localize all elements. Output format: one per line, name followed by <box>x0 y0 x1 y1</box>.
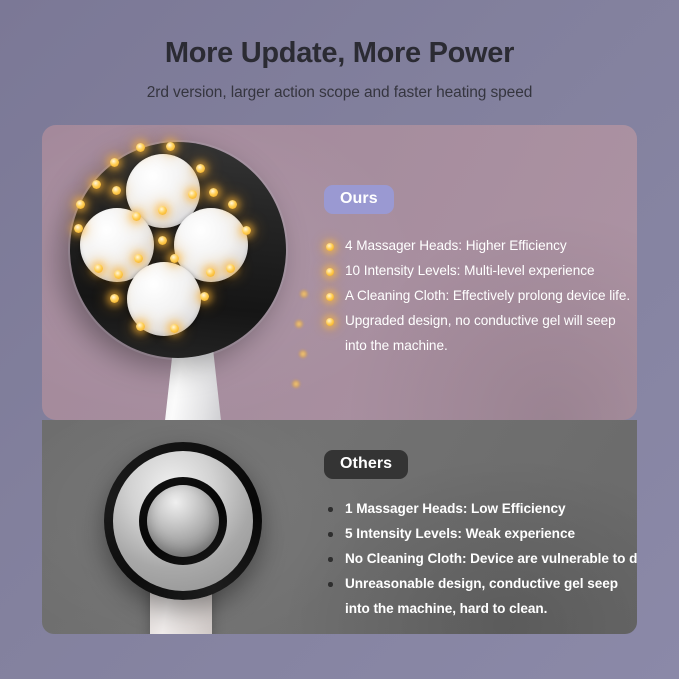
infographic-canvas: More Update, More Power 2rd version, lar… <box>0 0 679 679</box>
led-light <box>94 264 103 273</box>
list-item: 4 Massager Heads: Higher Efficiency <box>324 233 624 258</box>
list-item-continued: into the machine, hard to clean. <box>324 596 634 621</box>
list-item-continued: into the machine. <box>324 333 624 358</box>
ours-product-image <box>52 130 322 420</box>
list-item: Unreasonable design, conductive gel seep <box>324 571 634 596</box>
list-item: Upgraded design, no conductive gel will … <box>324 308 624 333</box>
led-light <box>196 164 205 173</box>
led-light <box>209 188 218 197</box>
others-product-image <box>82 430 282 634</box>
led-light <box>132 212 141 221</box>
led-light <box>114 270 123 279</box>
others-ring-dark <box>139 477 227 565</box>
led-light <box>166 142 175 151</box>
others-massager-head <box>104 442 262 600</box>
led-light <box>170 254 179 263</box>
led-light <box>110 294 119 303</box>
others-dome <box>147 485 219 557</box>
page-subtitle: 2rd version, larger action scope and fas… <box>0 84 679 102</box>
led-light <box>158 236 167 245</box>
led-light <box>92 180 101 189</box>
header: More Update, More Power 2rd version, lar… <box>0 0 679 102</box>
led-light <box>136 143 145 152</box>
list-item: 5 Intensity Levels: Weak experience <box>324 521 634 546</box>
list-item: 10 Intensity Levels: Multi-level experie… <box>324 258 624 283</box>
led-light <box>76 200 85 209</box>
led-light <box>228 200 237 209</box>
list-item: No Cleaning Cloth: Device are vulnerable… <box>324 546 634 571</box>
others-badge: Others <box>324 450 408 479</box>
ours-feature-list: 4 Massager Heads: Higher Efficiency 10 I… <box>324 233 624 358</box>
led-light <box>158 206 167 215</box>
led-light <box>136 322 145 331</box>
others-feature-list: 1 Massager Heads: Low Efficiency 5 Inten… <box>324 496 634 621</box>
list-item: 1 Massager Heads: Low Efficiency <box>324 496 634 521</box>
others-content: Others 1 Massager Heads: Low Efficiency … <box>324 450 634 621</box>
ours-panel: Ours 4 Massager Heads: Higher Efficiency… <box>42 125 637 420</box>
led-light <box>200 292 209 301</box>
others-panel: Others 1 Massager Heads: Low Efficiency … <box>42 420 637 634</box>
ours-content: Ours 4 Massager Heads: Higher Efficiency… <box>324 185 624 358</box>
led-light <box>134 254 143 263</box>
page-title: More Update, More Power <box>0 37 679 70</box>
others-ring-mid <box>113 451 253 591</box>
led-light <box>206 268 215 277</box>
list-item: A Cleaning Cloth: Effectively prolong de… <box>324 283 624 308</box>
led-light <box>74 224 83 233</box>
led-light <box>188 190 197 199</box>
led-light <box>110 158 119 167</box>
ours-badge: Ours <box>324 185 394 214</box>
led-light <box>170 324 179 333</box>
led-light <box>226 264 235 273</box>
led-light <box>242 226 251 235</box>
led-light <box>112 186 121 195</box>
